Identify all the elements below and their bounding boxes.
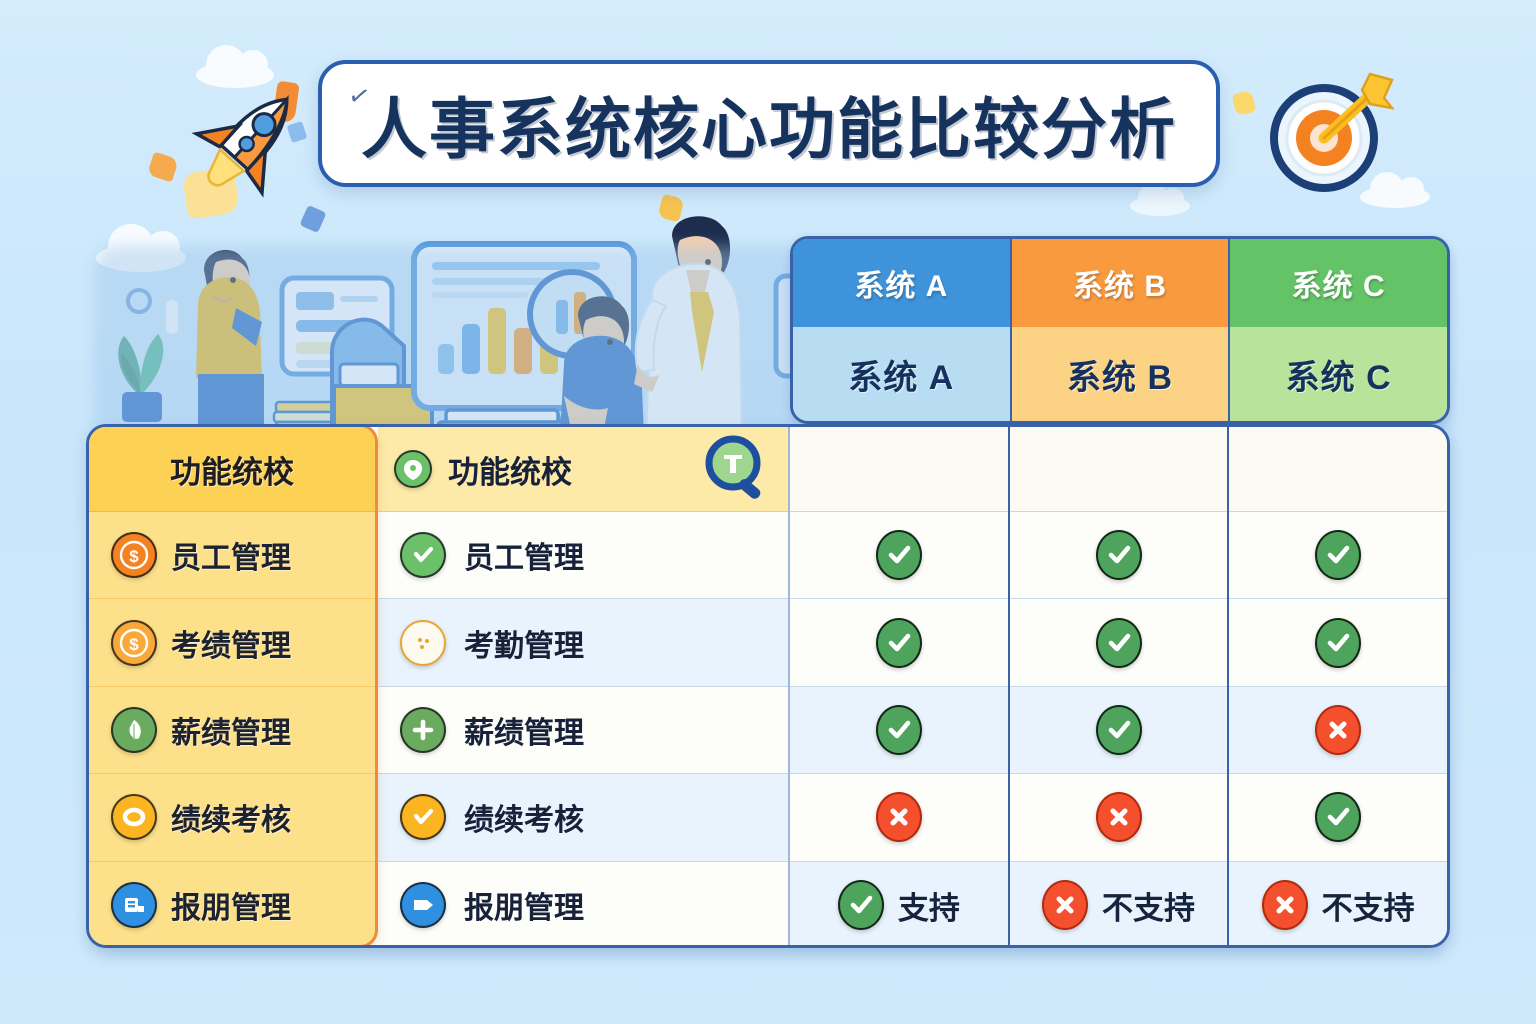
- check-circle-icon: [400, 532, 446, 578]
- system-name-a: 系统 A: [793, 327, 1010, 421]
- check-badge-icon: [1315, 618, 1361, 668]
- leaf-icon: [111, 707, 157, 753]
- cell-b-2[interactable]: [1010, 599, 1228, 686]
- svg-text:$: $: [129, 547, 139, 566]
- feature-category-label: 报朋管理: [171, 883, 291, 927]
- check-badge-icon: [876, 530, 922, 580]
- check-badge-icon: [838, 880, 884, 930]
- system-name-b: 系统 B: [1012, 327, 1229, 421]
- feature-category-label: 薪绩管理: [171, 708, 291, 752]
- check-badge-icon: [1096, 705, 1142, 755]
- check-badge-icon: [1315, 530, 1361, 580]
- value-column-spacer: [1010, 427, 1228, 512]
- cell-c-1[interactable]: [1229, 512, 1447, 599]
- feature-category-header-label: 功能统校: [170, 447, 294, 492]
- cell-a-3[interactable]: [790, 687, 1008, 774]
- feature-name-row[interactable]: 薪绩管理: [378, 687, 788, 774]
- cell-b-4[interactable]: [1010, 774, 1228, 861]
- feature-name-header: 功能统校: [378, 427, 788, 512]
- value-column-system-c: 不支持: [1229, 427, 1447, 945]
- feature-name-label: 员工管理: [464, 533, 584, 577]
- system-name-c: 系统 C: [1230, 327, 1447, 421]
- cell-a-2[interactable]: [790, 599, 1008, 686]
- feature-category-row[interactable]: 报朋管理: [89, 862, 375, 948]
- target-icon: [1266, 68, 1394, 196]
- value-column-system-a: 支持: [790, 427, 1010, 945]
- cell-b-5[interactable]: 不支持: [1010, 862, 1228, 948]
- page-title-card: ✓ 人事系统核心功能比较分析: [318, 60, 1220, 187]
- cell-c-5[interactable]: 不支持: [1229, 862, 1447, 948]
- cell-a-4[interactable]: [790, 774, 1008, 861]
- feature-category-label: 考绩管理: [171, 621, 291, 665]
- feature-category-column: 功能统校 $ 员工管理 $ 考绩管理 薪绩管理: [86, 424, 378, 948]
- dollar-coin-icon: $: [111, 532, 157, 578]
- check-badge-icon: [1315, 792, 1361, 842]
- cross-badge-icon: [1262, 880, 1308, 930]
- cell-a-5[interactable]: 支持: [790, 862, 1008, 948]
- cell-a-5-label: 支持: [898, 883, 960, 928]
- feature-name-column: 功能统校 员工管理 考勤管理: [378, 427, 790, 945]
- tab-system-a[interactable]: 系统 A: [793, 239, 1010, 327]
- cell-c-5-label: 不支持: [1322, 883, 1415, 928]
- tag-icon: [400, 882, 446, 928]
- system-column-b[interactable]: 系统 B 系统 B: [1012, 239, 1231, 421]
- tab-system-c[interactable]: 系统 C: [1230, 239, 1447, 327]
- feature-category-row[interactable]: 薪绩管理: [89, 687, 375, 774]
- dollar-coin-icon: $: [111, 620, 157, 666]
- feature-category-label: 员工管理: [171, 533, 291, 577]
- cross-badge-icon: [1096, 792, 1142, 842]
- feature-name-row[interactable]: 报朋管理: [378, 862, 788, 948]
- check-badge-icon: [1096, 530, 1142, 580]
- checkmark-decoration: ✓: [345, 79, 385, 119]
- plus-circle-icon: [400, 707, 446, 753]
- check-badge-icon: [876, 705, 922, 755]
- check-badge-icon: [1096, 618, 1142, 668]
- cloud-decoration: [1130, 196, 1190, 216]
- value-column-spacer: [1229, 427, 1447, 512]
- rocket-icon: [186, 72, 318, 204]
- cell-b-5-label: 不支持: [1102, 883, 1195, 928]
- feature-category-row[interactable]: $ 考绩管理: [89, 599, 375, 686]
- feature-name-label: 报朋管理: [464, 883, 584, 927]
- value-column-system-b: 不支持: [1010, 427, 1230, 945]
- feature-name-row[interactable]: 员工管理: [378, 512, 788, 599]
- cell-b-1[interactable]: [1010, 512, 1228, 599]
- feature-name-row[interactable]: 考勤管理: [378, 599, 788, 686]
- check-badge-icon: [876, 618, 922, 668]
- cross-badge-icon: [1315, 705, 1361, 755]
- report-icon: [111, 882, 157, 928]
- magnifier-icon[interactable]: [700, 433, 774, 505]
- cross-badge-icon: [876, 792, 922, 842]
- cell-b-3[interactable]: [1010, 687, 1228, 774]
- comparison-grid: 功能统校 $ 员工管理 $ 考绩管理 薪绩管理: [86, 424, 1450, 948]
- feature-category-label: 绩续考核: [171, 795, 291, 839]
- feature-category-row[interactable]: 绩续考核: [89, 774, 375, 861]
- confetti-shape: [147, 152, 179, 183]
- cookie-icon: [400, 620, 446, 666]
- ring-icon: [111, 794, 157, 840]
- cell-c-3[interactable]: [1229, 687, 1447, 774]
- cell-c-4[interactable]: [1229, 774, 1447, 861]
- feature-name-header-label: 功能统校: [448, 447, 572, 492]
- feature-name-row[interactable]: 绩续考核: [378, 774, 788, 861]
- cell-c-2[interactable]: [1229, 599, 1447, 686]
- svg-text:$: $: [129, 635, 139, 654]
- comparison-table-card: 系统 A 系统 A 系统 B 系统 B 系统 C 系统 C 功能统校 $ 员工管…: [86, 236, 1450, 948]
- feature-category-row[interactable]: $ 员工管理: [89, 512, 375, 599]
- system-header-group: 系统 A 系统 A 系统 B 系统 B 系统 C 系统 C: [790, 236, 1450, 424]
- tab-system-b[interactable]: 系统 B: [1012, 239, 1229, 327]
- feature-name-label: 薪绩管理: [464, 708, 584, 752]
- feature-name-label: 考勤管理: [464, 621, 584, 665]
- system-column-a[interactable]: 系统 A 系统 A: [793, 239, 1012, 421]
- feature-category-header: 功能统校: [89, 427, 375, 512]
- cross-badge-icon: [1042, 880, 1088, 930]
- cell-a-1[interactable]: [790, 512, 1008, 599]
- check-circle-icon: [400, 794, 446, 840]
- page-title: 人事系统核心功能比较分析: [361, 76, 1177, 172]
- system-column-c[interactable]: 系统 C 系统 C: [1230, 239, 1447, 421]
- feature-name-label: 绩续考核: [464, 795, 584, 839]
- value-column-spacer: [790, 427, 1008, 512]
- confetti-shape: [1232, 90, 1257, 116]
- location-pin-icon: [394, 450, 432, 488]
